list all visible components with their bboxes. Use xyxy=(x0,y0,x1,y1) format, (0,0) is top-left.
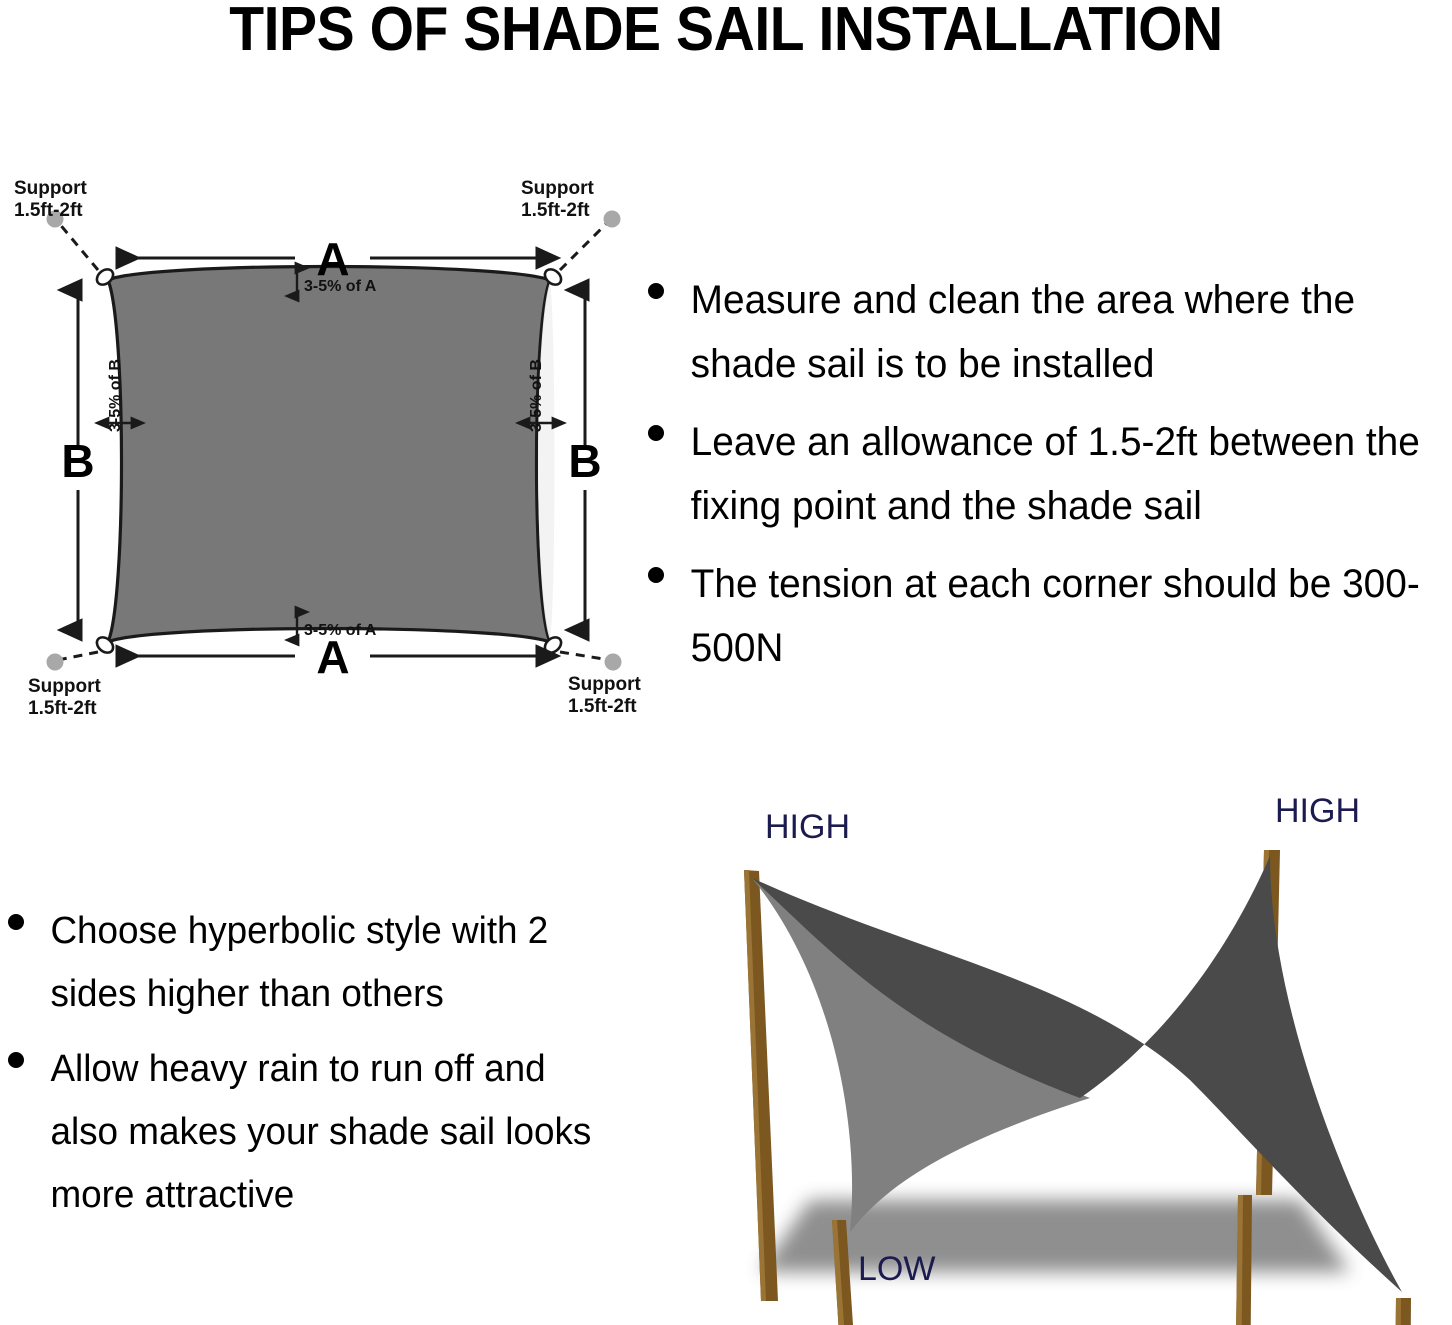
rectangular-sail-diagram: Support 1.5ft-2ft Support 1.5ft-2ft Supp… xyxy=(0,150,660,740)
tip-text: Measure and clean the area where the sha… xyxy=(648,268,1428,396)
support-line-top-left xyxy=(58,222,98,270)
post-low-right xyxy=(1393,1298,1411,1325)
list-item: Allow heavy rain to run off and also mak… xyxy=(0,1038,630,1227)
hyperbolic-sail-illustration: HIGH HIGH LOW LOW xyxy=(660,780,1452,1325)
label-high-right: HIGH xyxy=(1275,792,1360,830)
curve-label-bottom: 3-5% of A xyxy=(304,622,377,639)
curve-label-left: 3-5% of B xyxy=(107,359,124,432)
dimension-letter-b-right: B xyxy=(568,435,601,487)
support-label-bottom-right-line1: Support xyxy=(568,674,641,695)
support-dot-top-right xyxy=(604,211,621,228)
support-line-top-right xyxy=(560,222,608,270)
curve-label-top: 3-5% of A xyxy=(304,278,377,295)
label-high-left: HIGH xyxy=(765,808,850,846)
support-dot-bottom-right xyxy=(605,654,622,671)
dimension-letter-b-left: B xyxy=(61,435,94,487)
tip-text: Leave an allowance of 1.5-2ft between th… xyxy=(648,410,1428,538)
list-item: Measure and clean the area where the sha… xyxy=(648,268,1452,396)
support-label-bottom-left-line2: 1.5ft-2ft xyxy=(28,698,97,719)
support-label-bottom-right-line2: 1.5ft-2ft xyxy=(568,696,637,717)
support-label-bottom-left-line1: Support xyxy=(28,676,101,697)
label-low-left: LOW xyxy=(858,1250,935,1288)
page-title: TIPS OF SHADE SAIL INSTALLATION xyxy=(58,0,1394,65)
tip-text: Allow heavy rain to run off and also mak… xyxy=(0,1038,611,1227)
tip-text: The tension at each corner should be 300… xyxy=(648,552,1428,680)
support-label-top-left-line1: Support xyxy=(14,178,87,199)
support-label-top-left-line2: 1.5ft-2ft xyxy=(14,200,83,221)
support-label-top-right-line1: Support xyxy=(521,178,594,199)
support-dot-bottom-left xyxy=(47,654,64,671)
infographic-page: TIPS OF SHADE SAIL INSTALLATION Support … xyxy=(0,0,1452,1325)
curve-label-right: 3-5% of B xyxy=(528,359,545,432)
support-label-top-right-line2: 1.5ft-2ft xyxy=(521,200,590,221)
shade-sail-shape xyxy=(108,267,550,643)
list-item: Leave an allowance of 1.5-2ft between th… xyxy=(648,410,1452,538)
support-line-bottom-right xyxy=(560,652,610,660)
installation-tips-list: Measure and clean the area where the sha… xyxy=(648,268,1452,694)
list-item: The tension at each corner should be 300… xyxy=(648,552,1452,680)
support-line-bottom-left xyxy=(58,652,98,660)
post-high-left xyxy=(744,870,778,1301)
list-item: Choose hyperbolic style with 2 sides hig… xyxy=(0,900,630,1026)
hyperbolic-style-tips-list: Choose hyperbolic style with 2 sides hig… xyxy=(0,900,630,1239)
tip-text: Choose hyperbolic style with 2 sides hig… xyxy=(0,900,611,1026)
